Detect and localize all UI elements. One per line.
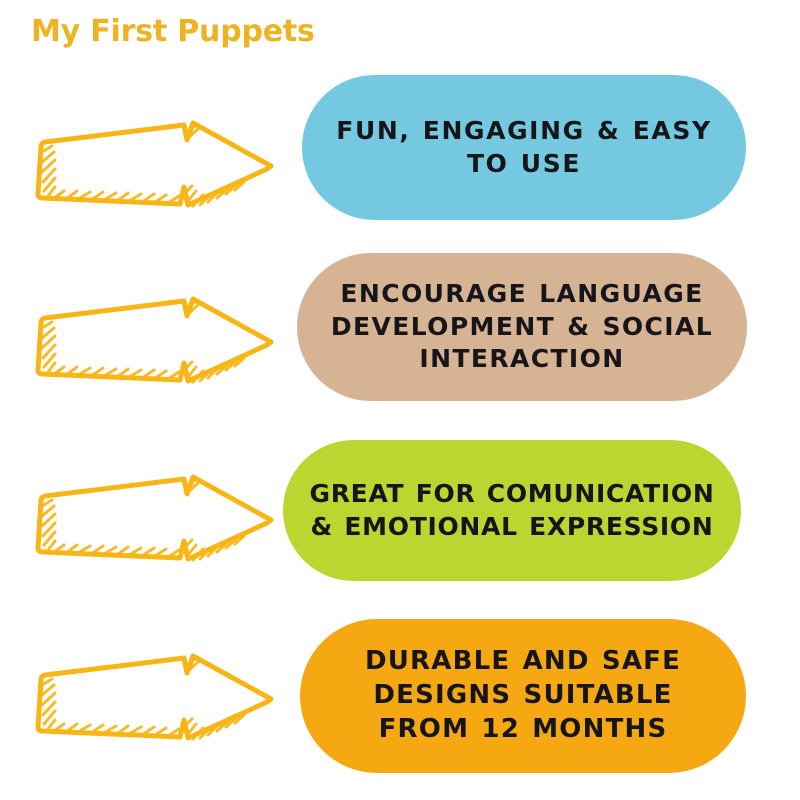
benefit-text-2: Encourage language development & social … <box>323 278 721 376</box>
sketch-arrow-right-icon <box>24 112 274 216</box>
benefit-pill-1: Fun, engaging & easy to use <box>302 75 746 220</box>
benefit-text-4: Durable and safe designs suitable from 1… <box>326 645 720 746</box>
sketch-arrow-right-icon <box>24 645 274 749</box>
sketch-arrow-right-icon <box>24 466 274 570</box>
benefit-text-3: Great for comunication & emotional expre… <box>309 478 715 543</box>
benefit-pill-3: Great for comunication & emotional expre… <box>283 440 741 581</box>
benefit-text-1: Fun, engaging & easy to use <box>328 115 720 180</box>
page-title: My First Puppets <box>31 17 315 47</box>
sketch-arrow-right-icon <box>24 288 274 392</box>
benefit-pill-4: Durable and safe designs suitable from 1… <box>300 619 746 773</box>
benefit-pill-2: Encourage language development & social … <box>297 253 747 401</box>
infographic-canvas: My First Puppets <box>0 0 800 800</box>
